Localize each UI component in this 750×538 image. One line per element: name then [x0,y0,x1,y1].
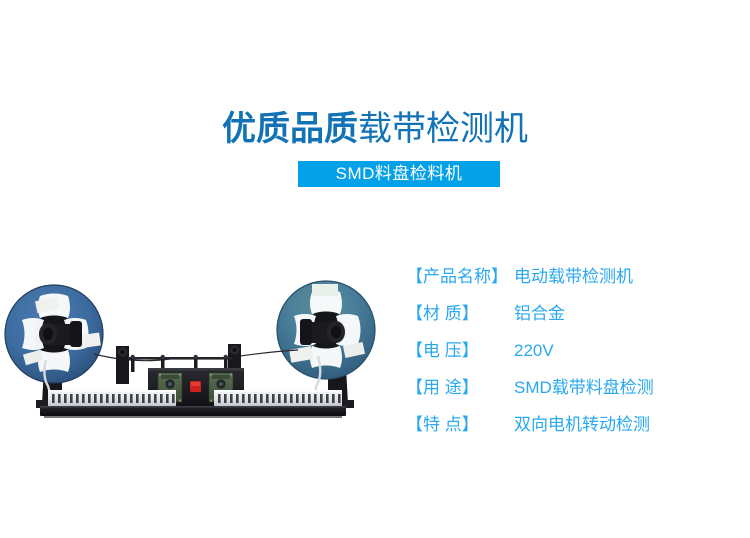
left-guide-pillar [116,346,129,384]
spec-row-usage: 【用 途】SMD载带料盘检测 [406,369,736,406]
left-motor-head [39,321,82,347]
spec-value: 220V [514,332,554,369]
spec-value: 铝合金 [514,295,565,332]
spec-row-product-name: 【产品名称】电动载带检测机 [406,258,736,295]
spec-value: 双向电机转动检测 [514,406,650,443]
spec-value: SMD载带料盘检测 [514,369,654,406]
center-indicator[interactable] [190,381,201,392]
machine-illustration [0,268,390,428]
right-motor-head [300,319,345,345]
right-rail-slots [218,394,341,403]
right-reel-assembly [277,281,375,408]
spec-key: 【产品名称】 [406,258,514,295]
spec-key: 【用 途】 [406,369,514,406]
product-photo [0,268,390,428]
subtitle-banner: SMD料盘检料机 [298,161,500,187]
spec-key: 【材 质】 [406,295,514,332]
page-title-accent: 优质品质 [222,110,358,148]
spec-row-material: 【材 质】铝合金 [406,295,736,332]
spec-row-features: 【特 点】双向电机转动检测 [406,406,736,443]
spec-value: 电动载带检测机 [514,258,633,295]
page-title: 优质品质载带检测机 [0,108,750,150]
product-spec-list: 【产品名称】电动载带检测机 【材 质】铝合金 【电 压】220V 【用 途】SM… [406,258,736,443]
left-reel-assembly [5,285,103,408]
spec-row-voltage: 【电 压】220V [406,332,736,369]
spec-key: 【电 压】 [406,332,514,369]
page-title-rest: 载带检测机 [358,110,528,148]
left-rail-slots [52,394,175,403]
base-plate [40,406,346,418]
right-guide-rail [214,390,342,406]
left-guide-rail [48,390,176,406]
spec-key: 【特 点】 [406,406,514,443]
subtitle-label: SMD料盘检料机 [336,164,463,183]
